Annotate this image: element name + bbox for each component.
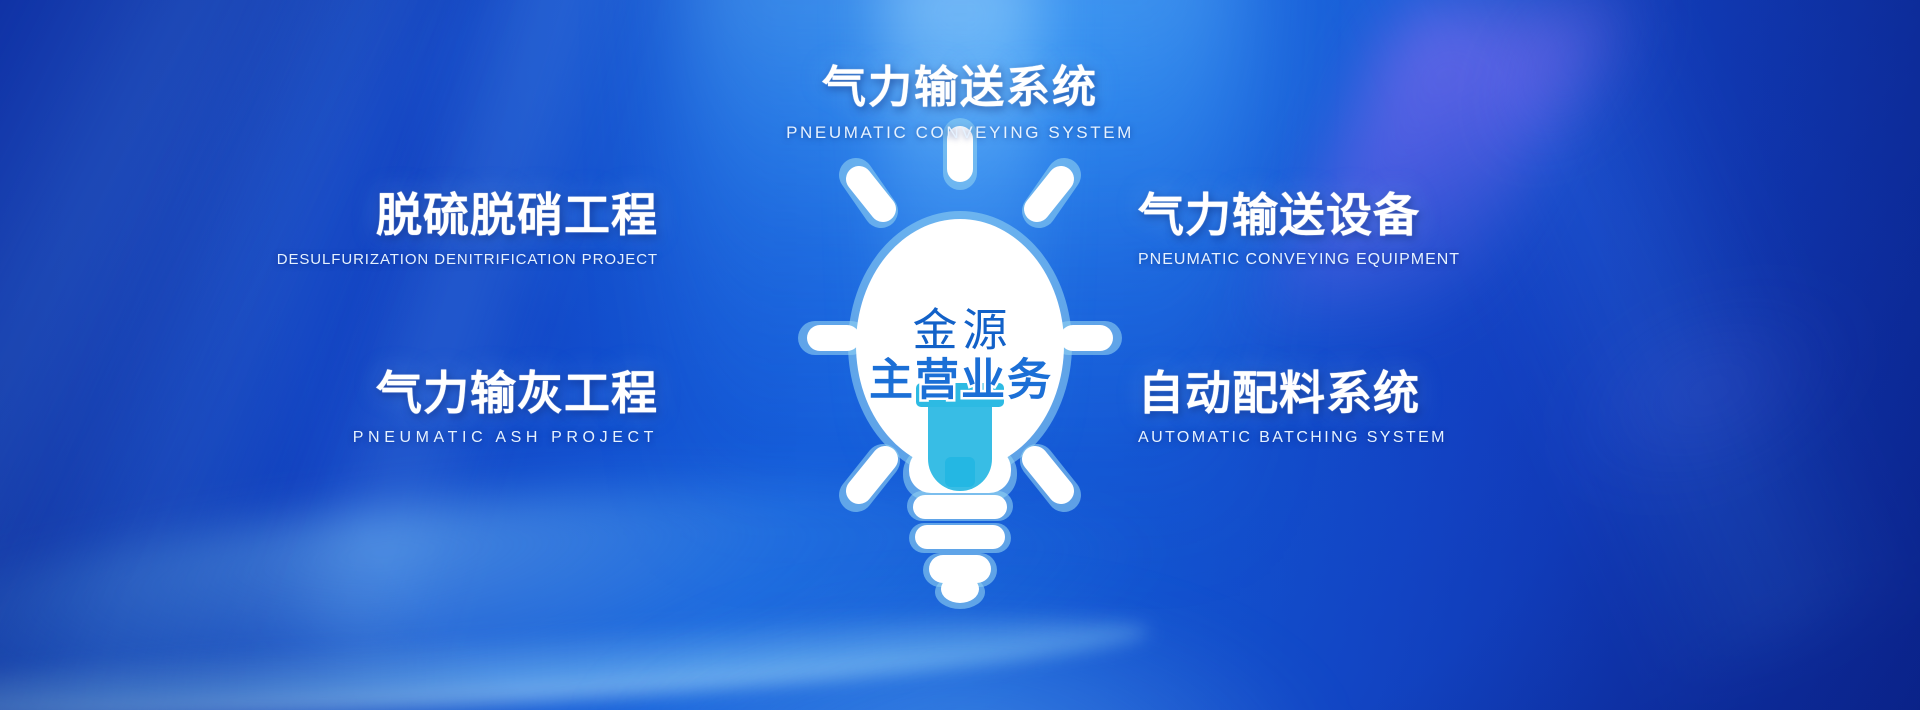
feature-pneumatic-conveying-equipment[interactable]: 气力输送设备 PNEUMATIC CONVEYING EQUIPMENT	[1138, 192, 1460, 268]
feature-title-cn: 气力输送设备	[1138, 192, 1460, 238]
feature-title-en: PNEUMATIC ASH PROJECT	[353, 430, 658, 446]
feature-pneumatic-ash-project[interactable]: 气力输灰工程 PNEUMATIC ASH PROJECT	[353, 370, 658, 446]
feature-title-cn: 自动配料系统	[1138, 370, 1447, 416]
feature-title-cn: 气力输送系统	[786, 66, 1134, 110]
feature-title-cn: 脱硫脱硝工程	[277, 192, 658, 238]
feature-title-en: AUTOMATIC BATCHING SYSTEM	[1138, 430, 1447, 446]
feature-desulfurization-denitrification-project[interactable]: 脱硫脱硝工程 DESULFURIZATION DENITRIFICATION P…	[277, 192, 658, 267]
feature-title-cn: 气力输灰工程	[353, 370, 658, 416]
feature-title-en: DESULFURIZATION DENITRIFICATION PROJECT	[277, 252, 658, 267]
feature-title-en: PNEUMATIC CONVEYING EQUIPMENT	[1138, 252, 1460, 268]
feature-title-en: PNEUMATIC CONVEYING SYSTEM	[786, 124, 1134, 141]
hero-banner: 金源 主营业务 气力输送系统 PNEUMATIC CONVEYING SYSTE…	[0, 0, 1920, 710]
feature-pneumatic-conveying-system[interactable]: 气力输送系统 PNEUMATIC CONVEYING SYSTEM	[786, 66, 1134, 141]
feature-automatic-batching-system[interactable]: 自动配料系统 AUTOMATIC BATCHING SYSTEM	[1138, 370, 1447, 446]
